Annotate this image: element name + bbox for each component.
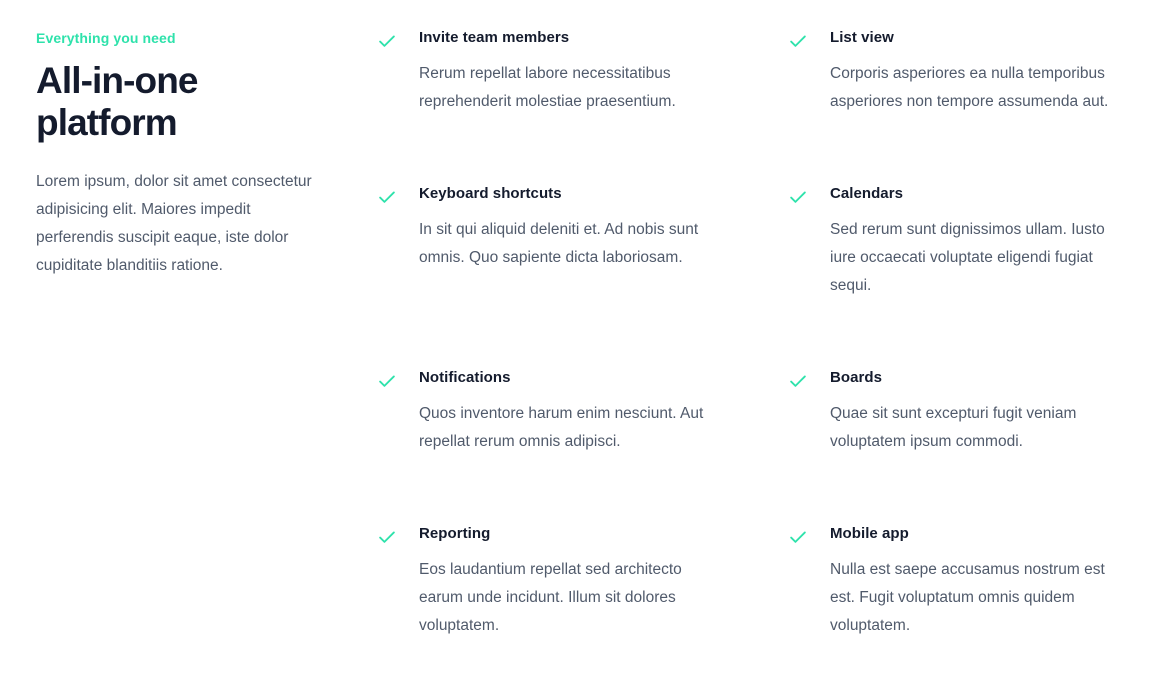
feature-title: Invite team members: [419, 28, 727, 48]
feature-item: List view Corporis asperiores ea nulla t…: [787, 28, 1138, 184]
feature-title: List view: [830, 28, 1138, 48]
feature-description: Corporis asperiores ea nulla temporibus …: [830, 60, 1130, 116]
feature-title: Notifications: [419, 368, 727, 388]
feature-item: Reporting Eos laudantium repellat sed ar…: [376, 524, 727, 654]
feature-description: Rerum repellat labore necessitatibus rep…: [419, 60, 719, 116]
intro-column: Everything you need All-in-one platform …: [36, 28, 366, 280]
feature-title: Reporting: [419, 524, 727, 544]
check-icon: [376, 30, 398, 52]
check-icon: [376, 526, 398, 548]
check-icon: [787, 526, 809, 548]
check-icon: [376, 186, 398, 208]
feature-item: Mobile app Nulla est saepe accusamus nos…: [787, 524, 1138, 654]
feature-title: Mobile app: [830, 524, 1138, 544]
intro-description: Lorem ipsum, dolor sit amet consectetur …: [36, 168, 330, 280]
feature-item: Notifications Quos inventore harum enim …: [376, 368, 727, 524]
feature-description: Eos laudantium repellat sed architecto e…: [419, 556, 719, 640]
feature-description: Quae sit sunt excepturi fugit veniam vol…: [830, 400, 1130, 456]
page-title: All-in-one platform: [36, 60, 330, 144]
feature-item: Boards Quae sit sunt excepturi fugit ven…: [787, 368, 1138, 524]
check-icon: [787, 186, 809, 208]
feature-description: Nulla est saepe accusamus nostrum est es…: [830, 556, 1130, 640]
feature-title: Keyboard shortcuts: [419, 184, 727, 204]
section-eyebrow: Everything you need: [36, 28, 330, 48]
feature-title: Boards: [830, 368, 1138, 388]
feature-item: Keyboard shortcuts In sit qui aliquid de…: [376, 184, 727, 368]
feature-title: Calendars: [830, 184, 1138, 204]
feature-description: Sed rerum sunt dignissimos ullam. Iusto …: [830, 216, 1130, 300]
feature-description: Quos inventore harum enim nesciunt. Aut …: [419, 400, 719, 456]
feature-section-layout: Everything you need All-in-one platform …: [36, 28, 1138, 654]
feature-section: Everything you need All-in-one platform …: [0, 0, 1174, 693]
check-icon: [787, 30, 809, 52]
feature-item: Calendars Sed rerum sunt dignissimos ull…: [787, 184, 1138, 368]
feature-grid: Invite team members Rerum repellat labor…: [366, 28, 1138, 654]
feature-item: Invite team members Rerum repellat labor…: [376, 28, 727, 184]
check-icon: [787, 370, 809, 392]
check-icon: [376, 370, 398, 392]
feature-description: In sit qui aliquid deleniti et. Ad nobis…: [419, 216, 719, 272]
